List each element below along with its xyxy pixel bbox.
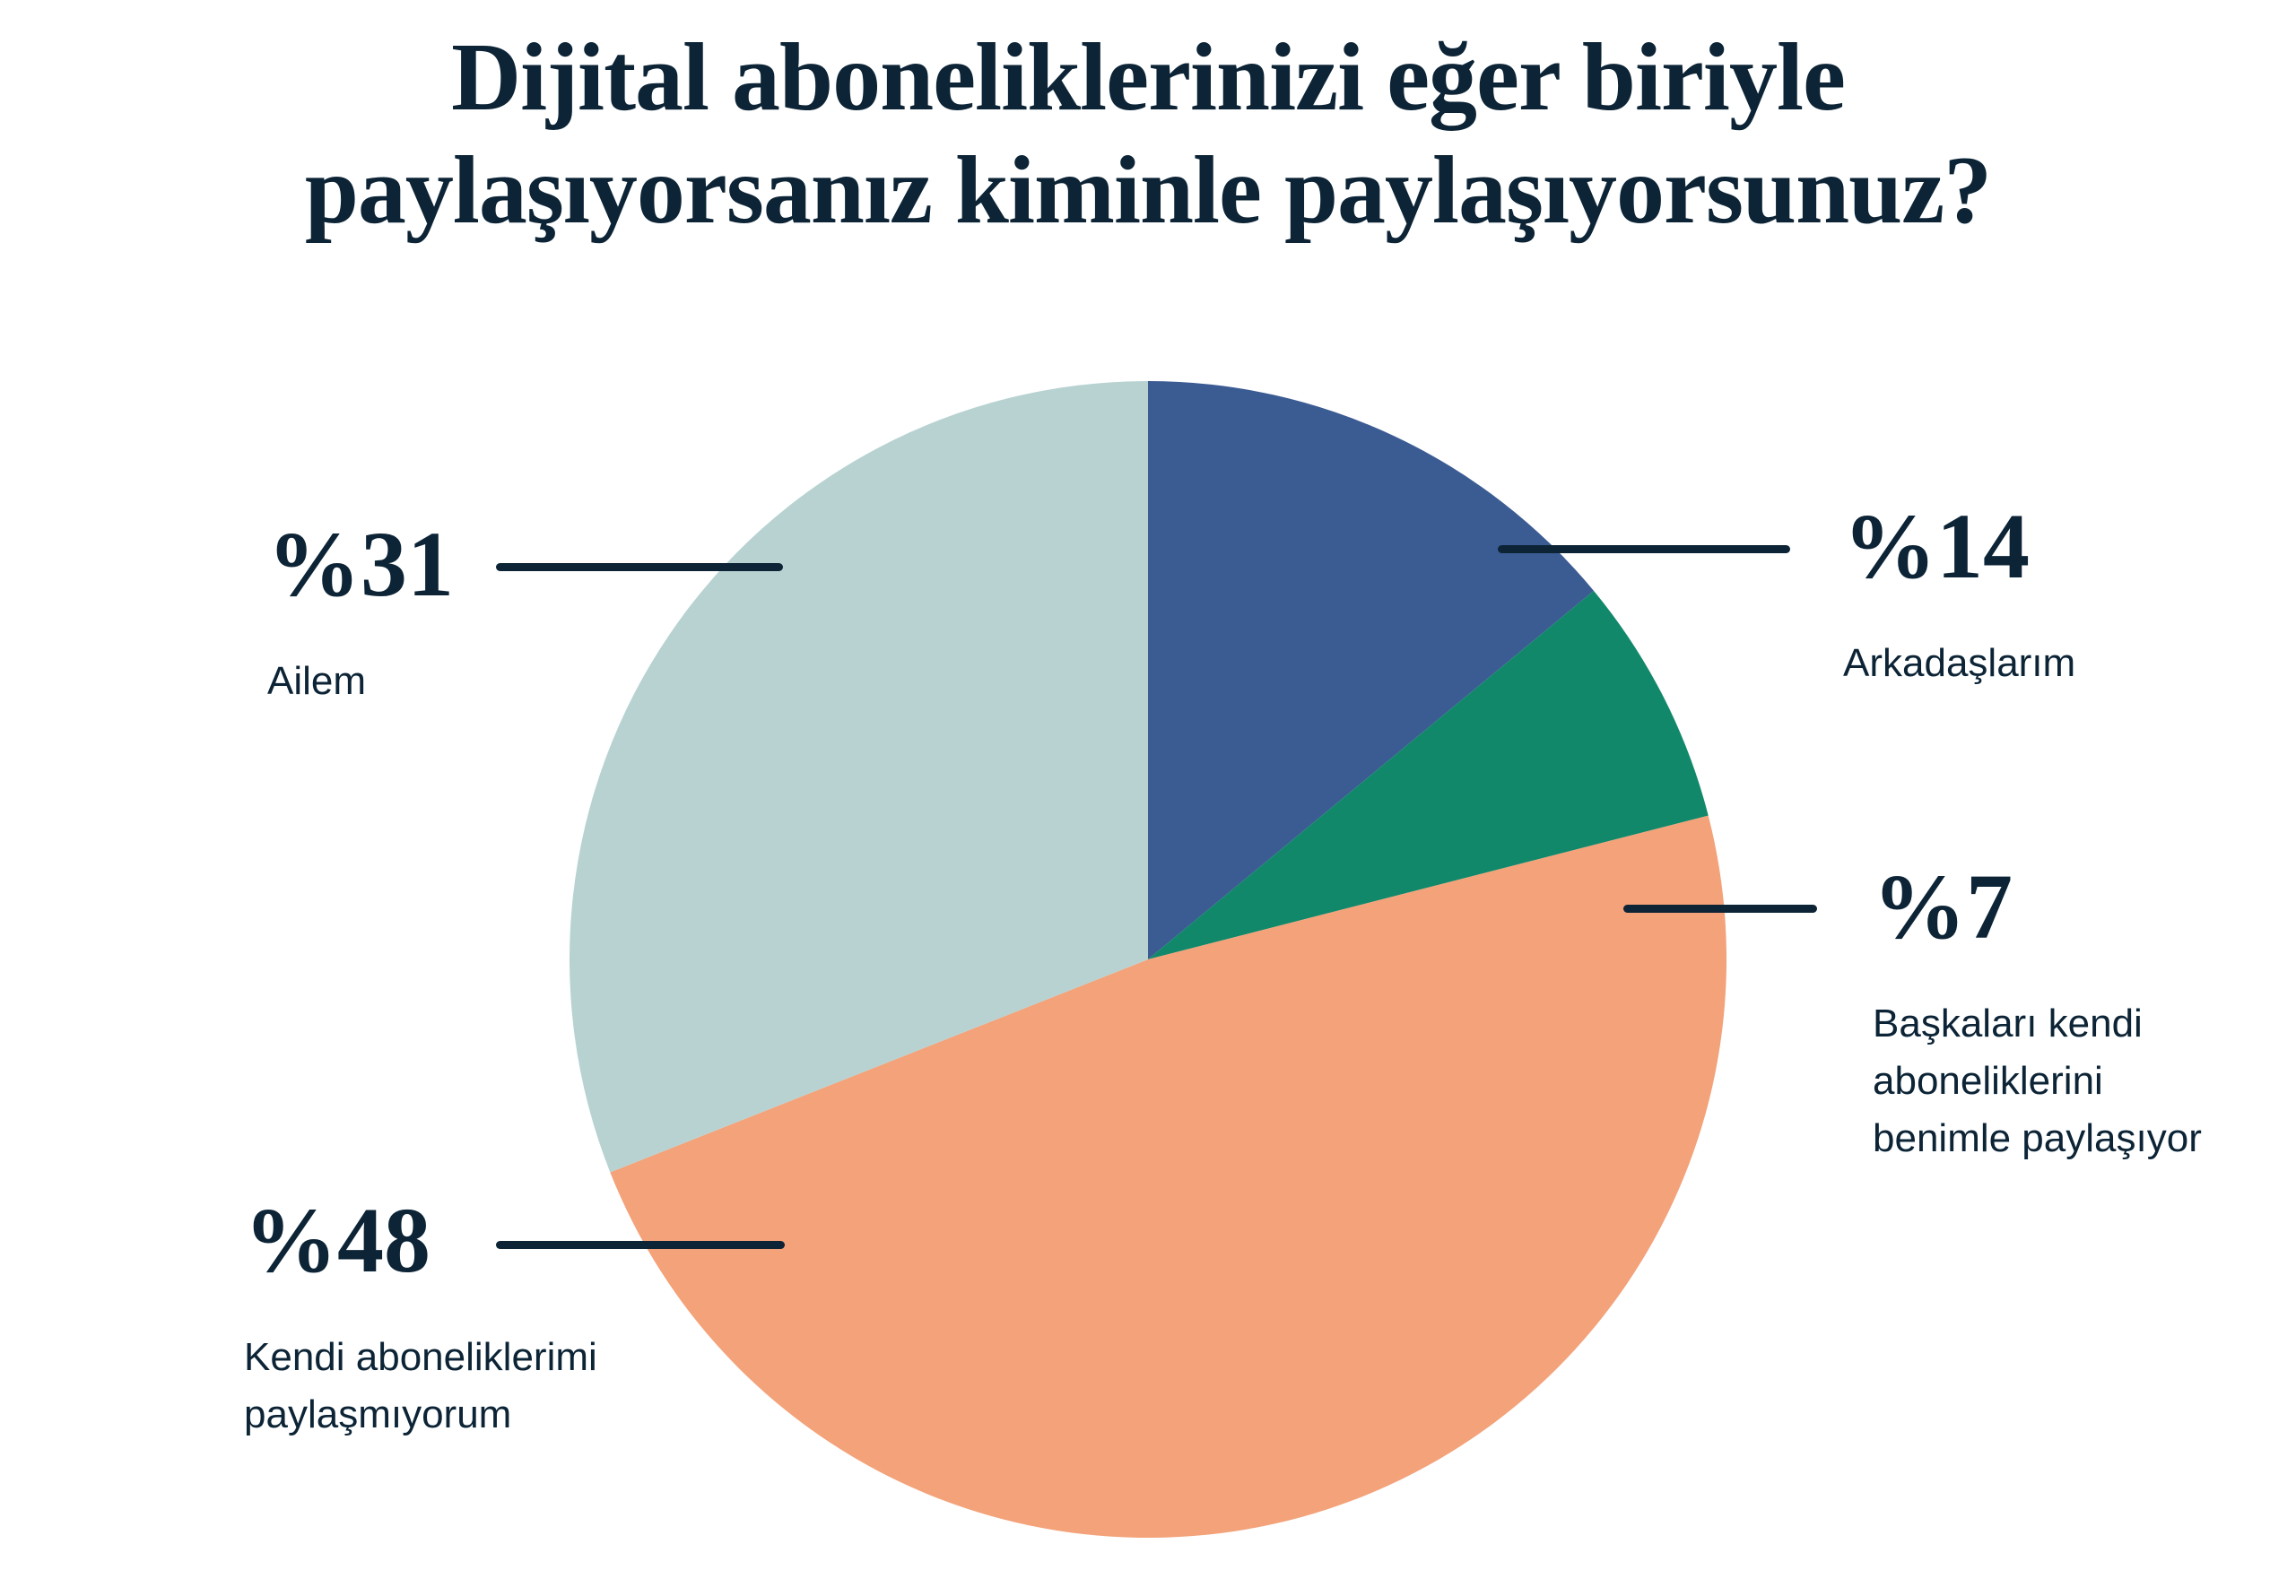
callout-friends: %14 Arkadaşlarım [1843, 500, 2075, 692]
callout-percent-others: %7 [1873, 861, 2202, 954]
leader-line-others [1623, 905, 1817, 913]
callout-percent-family: %31 [267, 518, 454, 612]
infographic-pie-chart: Dijital aboneliklerinizi eğer biriyle pa… [0, 0, 2296, 1596]
leader-line-friends [1498, 545, 1790, 553]
callout-nosharing: %48 Kendi aboneliklerimi paylaşmıyorum [244, 1194, 597, 1444]
pie-slices [570, 381, 1726, 1538]
pie-svg [570, 381, 1726, 1538]
callout-label-friends: Arkadaşlarım [1843, 635, 2075, 692]
chart-title: Dijital aboneliklerinizi eğer biriyle pa… [0, 22, 2296, 248]
callout-percent-friends: %14 [1843, 500, 2075, 594]
pie-chart [570, 381, 1726, 1538]
callout-others: %7 Başkaları kendi aboneliklerini beniml… [1873, 861, 2202, 1167]
callout-percent-nosharing: %48 [244, 1194, 597, 1288]
leader-line-family [496, 563, 783, 571]
callout-label-family: Ailem [267, 653, 454, 710]
callout-family: %31 Ailem [267, 518, 454, 710]
callout-label-others: Başkaları kendi aboneliklerini benimle p… [1873, 995, 2202, 1167]
callout-label-nosharing: Kendi aboneliklerimi paylaşmıyorum [244, 1329, 597, 1444]
